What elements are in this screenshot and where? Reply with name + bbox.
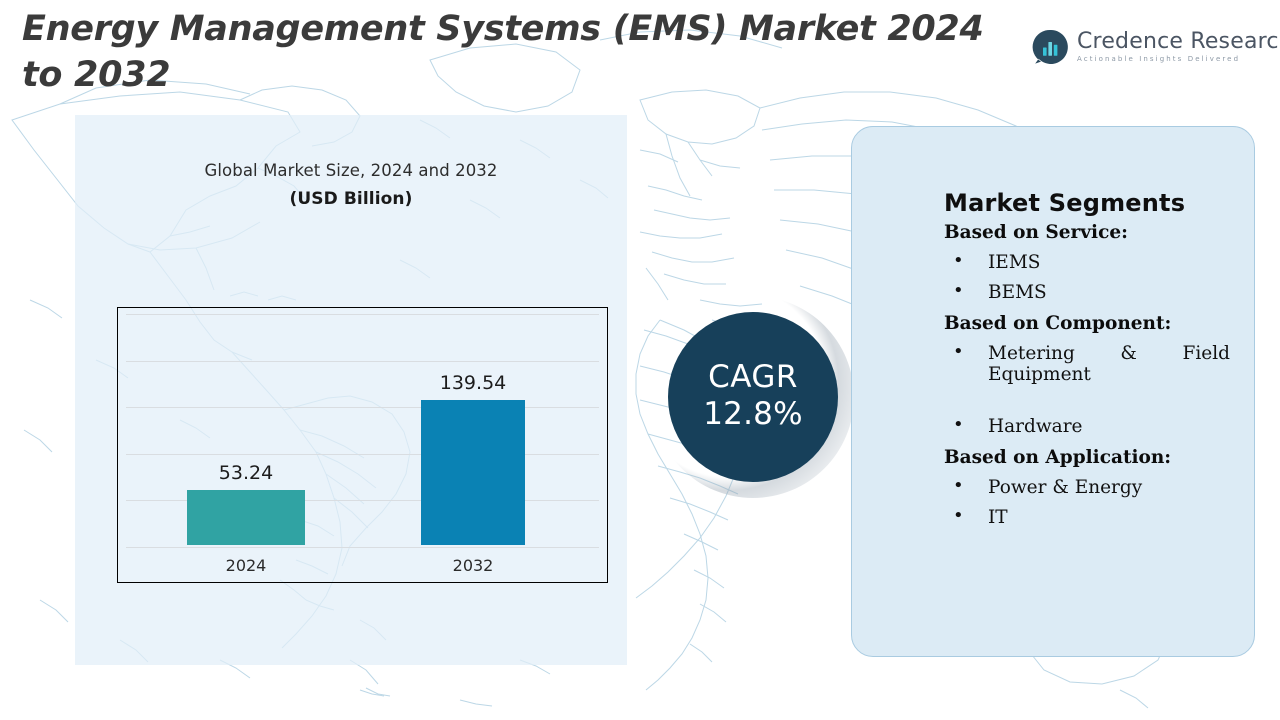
segment-groups: Based on Service:IEMSBEMSBased on Compon… — [944, 222, 1230, 529]
bar-category-label: 2032 — [453, 556, 494, 575]
segment-list-item: Metering & Field Equipment — [944, 343, 1230, 407]
bar-value-label: 53.24 — [219, 462, 273, 484]
segment-list: Power & EnergyIT — [944, 477, 1230, 529]
infographic-root: Energy Management Systems (EMS) Market 2… — [0, 0, 1280, 720]
bar-value-label: 139.54 — [440, 372, 506, 394]
segment-list-item: BEMS — [944, 282, 1230, 303]
cagr-label: CAGR — [708, 361, 798, 394]
chart-subtitle: (USD Billion) — [75, 189, 627, 209]
logo-wordmark: Credence Research Actionable Insights De… — [1077, 31, 1280, 63]
page-title: Energy Management Systems (EMS) Market 2… — [22, 6, 1027, 98]
bar-2032: 139.542032 — [421, 400, 525, 545]
segment-list-item: IT — [944, 507, 1230, 528]
logo-name: Credence Research — [1077, 31, 1280, 53]
cagr-badge: CAGR 12.8% — [668, 312, 838, 482]
brand-logo: Credence Research Actionable Insights De… — [1032, 24, 1258, 70]
chart-heading: Global Market Size, 2024 and 2032 (USD B… — [75, 161, 627, 209]
gridline — [126, 547, 599, 548]
segment-list-item: Power & Energy — [944, 477, 1230, 498]
bar-category-label: 2024 — [226, 556, 267, 575]
segment-list-item: Hardware — [944, 416, 1230, 437]
bar-chart-circle-icon — [1032, 28, 1070, 66]
segments-title: Market Segments — [944, 189, 1230, 217]
segment-group-heading: Based on Application: — [944, 447, 1230, 468]
chart-panel: Global Market Size, 2024 and 2032 (USD B… — [75, 115, 627, 665]
segment-list-item: IEMS — [944, 252, 1230, 273]
chart-bars: 53.242024139.542032 — [118, 345, 607, 545]
chart-title: Global Market Size, 2024 and 2032 — [75, 161, 627, 180]
gridline — [126, 314, 599, 315]
segment-group-heading: Based on Service: — [944, 222, 1230, 243]
chart-plot-area: 53.242024139.542032 — [117, 307, 608, 583]
cagr-value: 12.8% — [703, 397, 802, 433]
segment-list: IEMSBEMS — [944, 252, 1230, 304]
segment-group-heading: Based on Component: — [944, 313, 1230, 334]
segment-list: Metering & Field EquipmentHardware — [944, 343, 1230, 438]
logo-tagline: Actionable Insights Delivered — [1077, 56, 1280, 63]
market-segments-panel: Market Segments Based on Service:IEMSBEM… — [851, 126, 1255, 657]
bar-2024: 53.242024 — [187, 490, 305, 545]
market-segments-content: Market Segments Based on Service:IEMSBEM… — [944, 189, 1230, 538]
